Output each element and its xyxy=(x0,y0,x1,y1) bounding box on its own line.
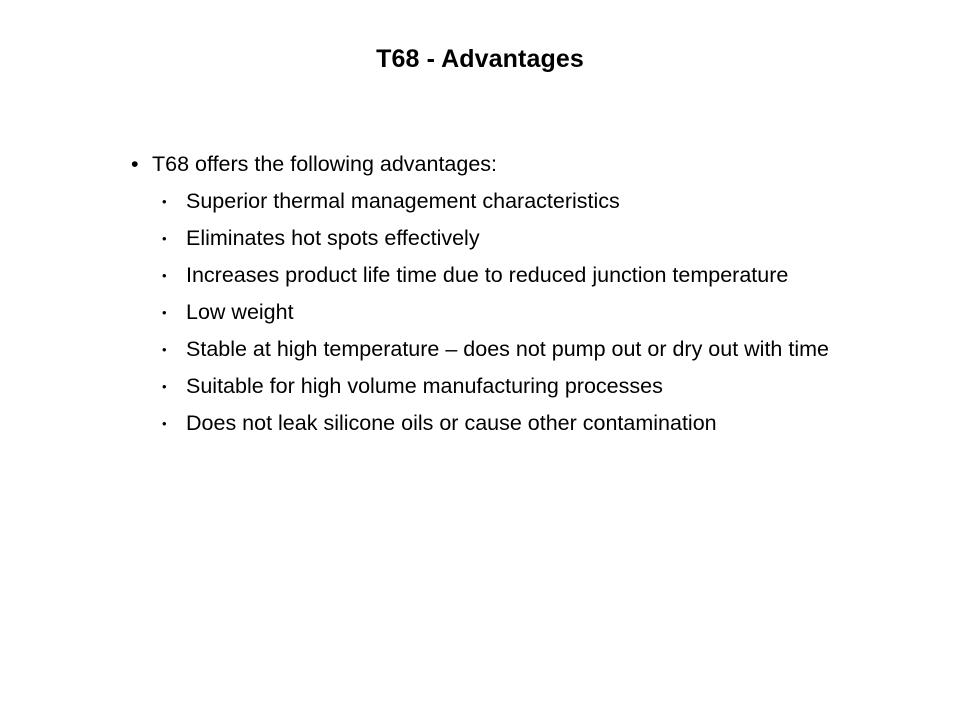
list-item: • Suitable for high volume manufacturing… xyxy=(128,368,908,405)
page-title: T68 - Advantages xyxy=(0,44,960,74)
small-round-bullet-icon: • xyxy=(162,183,167,221)
bullet-text: Superior thermal management characterist… xyxy=(186,183,908,220)
bullet-text: Low weight xyxy=(186,294,908,331)
list-item: • Low weight xyxy=(128,294,908,331)
small-round-bullet-icon: • xyxy=(162,257,167,295)
list-item: • Increases product life time due to red… xyxy=(128,257,908,294)
bullet-text: Stable at high temperature – does not pu… xyxy=(186,331,908,368)
bullet-text: Does not leak silicone oils or cause oth… xyxy=(186,405,908,442)
bullet-text: Increases product life time due to reduc… xyxy=(186,257,908,294)
list-item: • Superior thermal management characteri… xyxy=(128,183,908,220)
bullet-text: Suitable for high volume manufacturing p… xyxy=(186,368,908,405)
bullet-list: • T68 offers the following advantages: •… xyxy=(128,146,908,442)
small-round-bullet-icon: • xyxy=(162,220,167,258)
small-round-bullet-icon: • xyxy=(162,405,167,443)
list-item: • T68 offers the following advantages: xyxy=(128,146,908,183)
slide-body: • T68 offers the following advantages: •… xyxy=(128,146,908,442)
bullet-text: Eliminates hot spots effectively xyxy=(186,220,908,257)
small-round-bullet-icon: • xyxy=(162,294,167,332)
list-item: • Eliminates hot spots effectively xyxy=(128,220,908,257)
bullet-text: T68 offers the following advantages: xyxy=(152,146,908,183)
small-round-bullet-icon: • xyxy=(162,368,167,406)
slide: T68 - Advantages • T68 offers the follow… xyxy=(0,0,960,720)
round-bullet-icon: • xyxy=(131,146,139,183)
small-round-bullet-icon: • xyxy=(162,331,167,369)
list-item: • Stable at high temperature – does not … xyxy=(128,331,908,368)
list-item: • Does not leak silicone oils or cause o… xyxy=(128,405,908,442)
